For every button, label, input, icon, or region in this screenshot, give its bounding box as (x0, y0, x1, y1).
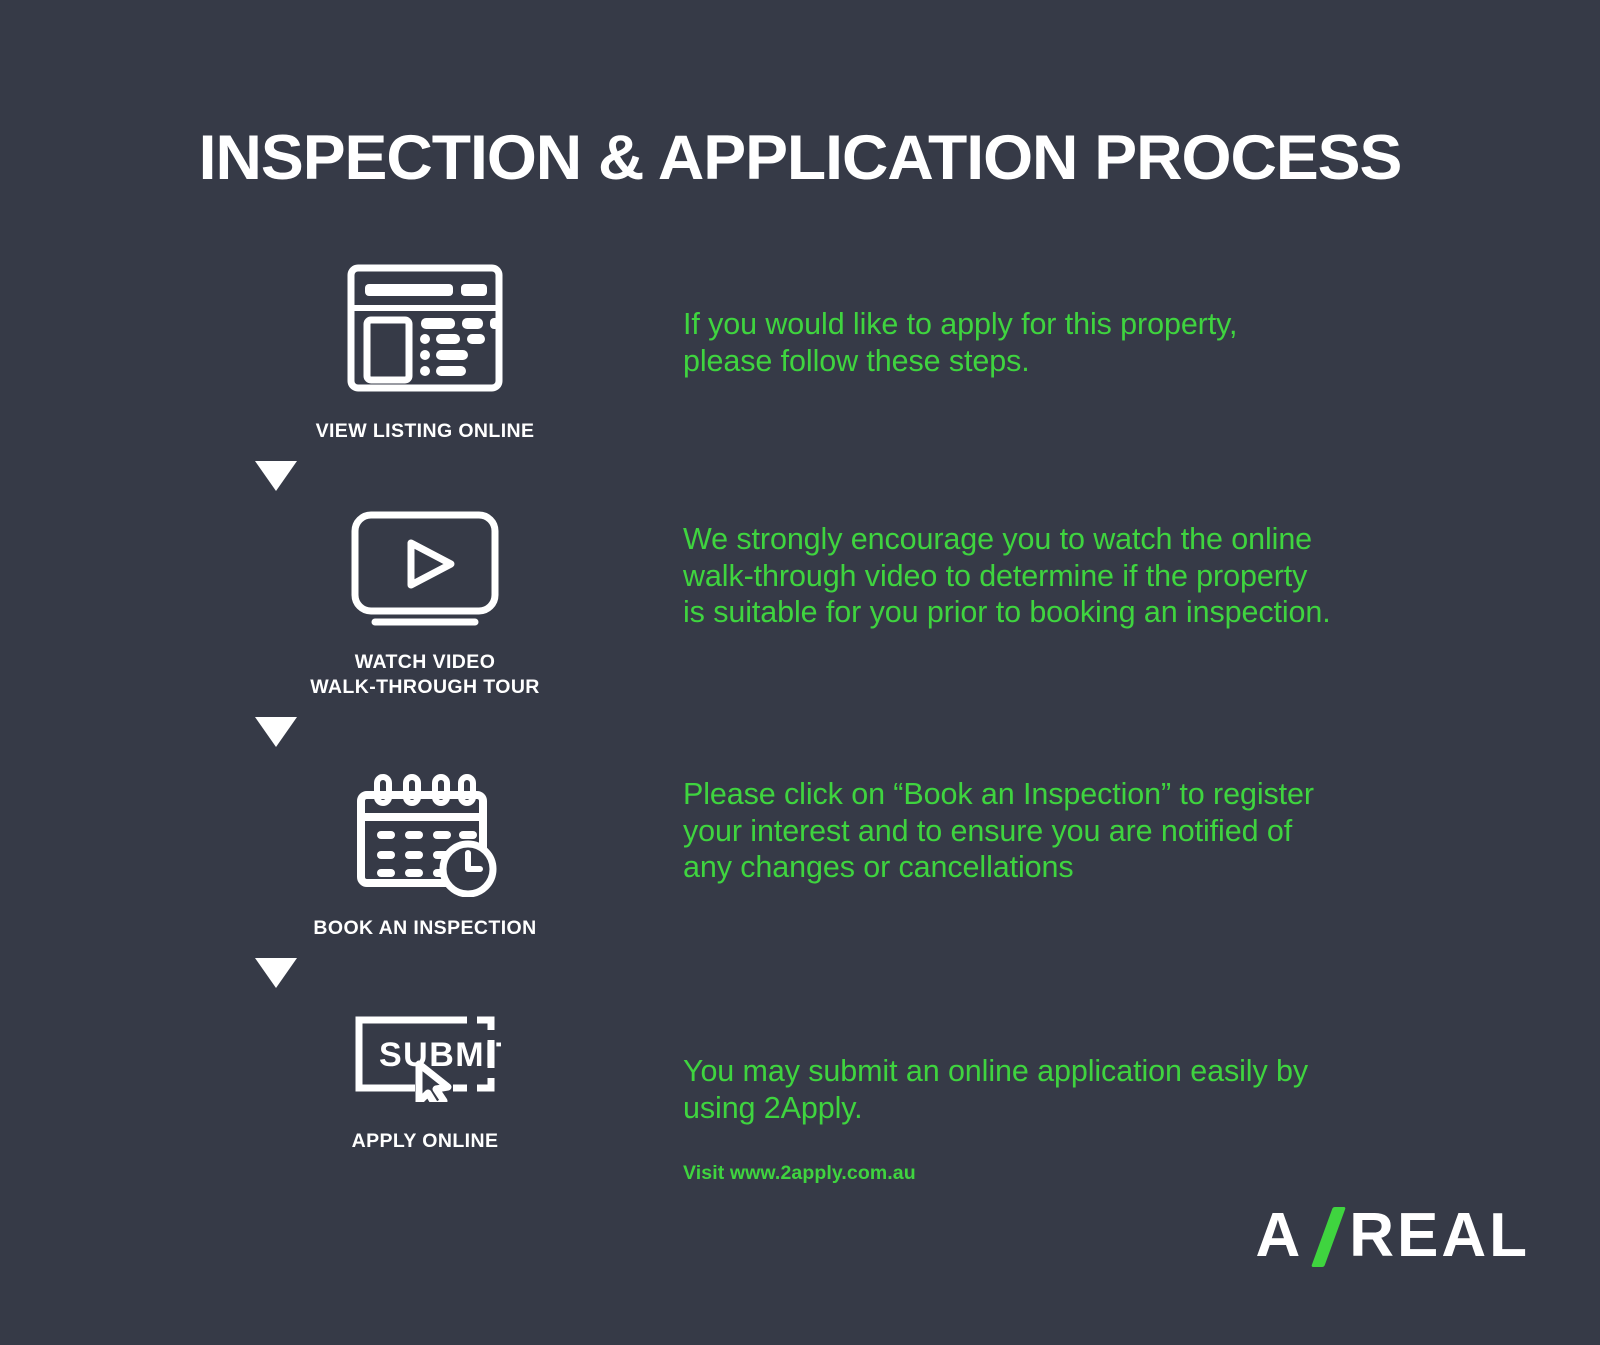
note-book-inspection: Please click on “Book an Inspection” to … (683, 776, 1314, 886)
step-label: APPLY ONLINE (352, 1129, 499, 1154)
note-view-listing: If you would like to apply for this prop… (683, 306, 1237, 379)
calendar-clock-icon (349, 765, 501, 902)
submit-button-cursor-icon: SUBMIT (349, 1006, 501, 1107)
page-title: INSPECTION & APPLICATION PROCESS (0, 122, 1600, 194)
arrow-down-icon-2 (255, 717, 297, 747)
step-watch-video-walk-through-tour[interactable]: WATCH VIDEO WALK-THROUGH TOUR (255, 509, 595, 700)
step-view-listing-online[interactable]: VIEW LISTING ONLINE (255, 262, 595, 444)
video-play-icon (349, 509, 501, 636)
logo-word-real: REAL (1349, 1200, 1530, 1271)
step-book-an-inspection[interactable]: BOOK AN INSPECTION (255, 765, 595, 941)
visit-link[interactable]: Visit www.2apply.com.au (683, 1162, 916, 1185)
step-apply-online[interactable]: SUBMIT APPLY ONLINE (255, 1006, 595, 1154)
arrow-down-icon-3 (255, 958, 297, 988)
arrow-down-icon-1 (255, 461, 297, 491)
submit-icon-text: SUBMIT (379, 1036, 501, 1074)
steps-column: VIEW LISTING ONLINE WATCH VIDEO WALK-THR… (255, 262, 595, 1154)
step-label: WATCH VIDEO WALK-THROUGH TOUR (310, 650, 540, 700)
logo-letter-a: A (1255, 1200, 1303, 1271)
poster-canvas: INSPECTION & APPLICATION PROCESS (0, 0, 1600, 1345)
brand-logo[interactable]: A REAL (1255, 1200, 1530, 1271)
step-label: BOOK AN INSPECTION (313, 916, 536, 941)
step-label: VIEW LISTING ONLINE (316, 419, 535, 444)
browser-listing-icon (345, 262, 505, 399)
note-apply-online: You may submit an online application eas… (683, 1053, 1308, 1126)
note-watch-video: We strongly encourage you to watch the o… (683, 521, 1331, 631)
logo-slash-icon (1313, 1205, 1343, 1267)
